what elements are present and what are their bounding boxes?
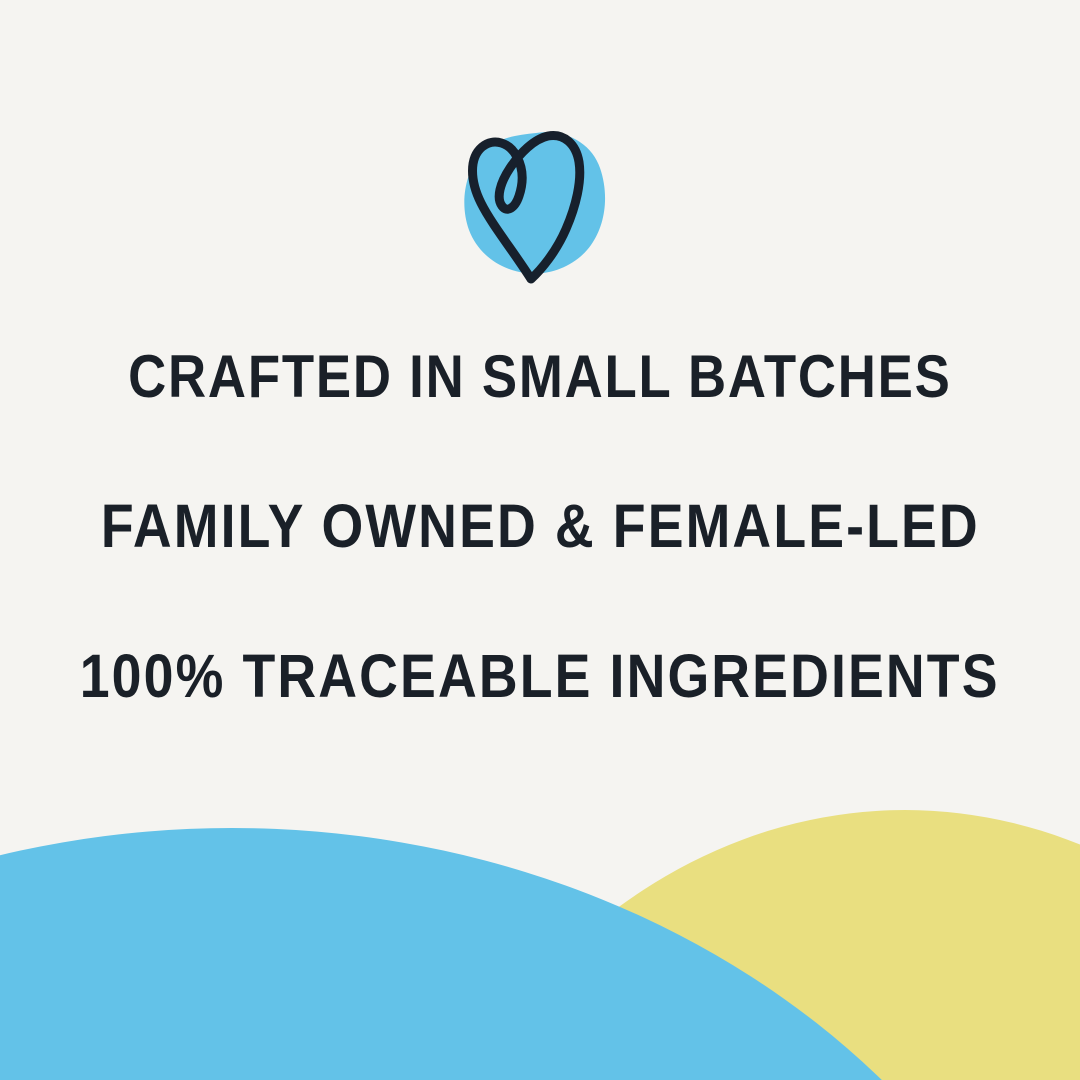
value-line-traceable-ingredients: 100% TRACEABLE INGREDIENTS bbox=[80, 644, 1000, 708]
yellow-wave bbox=[345, 810, 1080, 1080]
value-line-family-owned-female-led: FAMILY OWNED & FEMALE-LED bbox=[101, 494, 980, 558]
value-list: CRAFTED IN SMALL BATCHES FAMILY OWNED & … bbox=[0, 345, 1080, 708]
brand-values-card: CRAFTED IN SMALL BATCHES FAMILY OWNED & … bbox=[0, 0, 1080, 1080]
hand-drawn-heart-logo bbox=[440, 100, 640, 300]
blue-wave bbox=[0, 828, 1080, 1080]
value-line-crafted-in-small-batches: CRAFTED IN SMALL BATCHES bbox=[128, 345, 951, 408]
logo-block bbox=[0, 100, 1080, 300]
